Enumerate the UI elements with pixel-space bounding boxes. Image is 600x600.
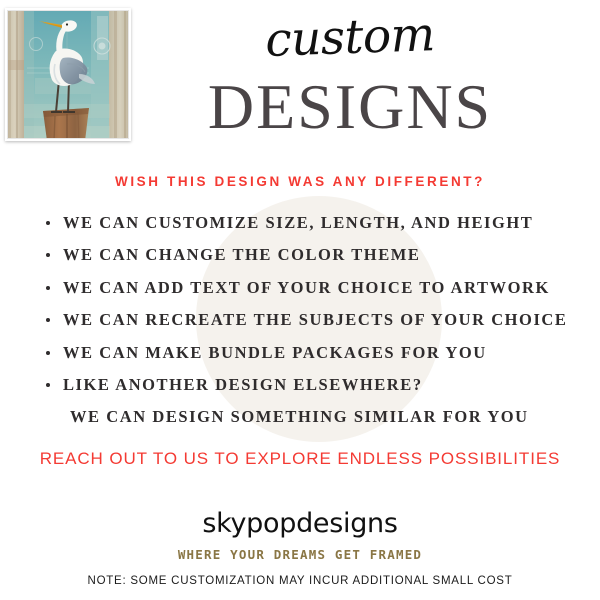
- header-block: custom DESIGNS: [140, 14, 560, 139]
- bullet-dot-icon: [46, 318, 50, 322]
- bullet-dot-icon: [46, 383, 50, 387]
- egret-painting-illustration: [5, 8, 131, 141]
- brand-tagline: WHERE YOUR DREAMS GET FRAMED: [0, 547, 600, 562]
- bullet-dot-icon: [46, 221, 50, 225]
- footer-note: NOTE: SOME CUSTOMIZATION MAY INCUR ADDIT…: [0, 575, 600, 587]
- bullet-dot-icon: [46, 351, 50, 355]
- benefits-list: WE CAN CUSTOMIZE SIZE, LENGTH, AND HEIGH…: [44, 214, 589, 440]
- list-item-continuation: WE CAN DESIGN SOMETHING SIMILAR FOR YOU: [63, 408, 589, 426]
- list-item: WE CAN MAKE BUNDLE PACKAGES FOR YOU: [44, 344, 589, 362]
- list-item-label: WE CAN ADD TEXT OF YOUR CHOICE TO ARTWOR…: [63, 278, 550, 297]
- subtitle-question: WISH THIS DESIGN WAS ANY DIFFERENT?: [0, 174, 600, 189]
- page-title: DESIGNS: [140, 75, 560, 139]
- list-item-label: LIKE ANOTHER DESIGN ELSEWHERE?: [63, 375, 423, 394]
- list-item-label: WE CAN RECREATE THE SUBJECTS OF YOUR CHO…: [63, 310, 567, 329]
- list-item: WE CAN RECREATE THE SUBJECTS OF YOUR CHO…: [44, 311, 589, 329]
- bullet-dot-icon: [46, 253, 50, 257]
- bullet-dot-icon: [46, 286, 50, 290]
- list-item: WE CAN CHANGE THE COLOR THEME: [44, 246, 589, 264]
- list-item: LIKE ANOTHER DESIGN ELSEWHERE? WE CAN DE…: [44, 376, 589, 426]
- artwork-thumbnail-egret[interactable]: [5, 8, 131, 141]
- list-item-label: WE CAN MAKE BUNDLE PACKAGES FOR YOU: [63, 343, 487, 362]
- list-item: WE CAN CUSTOMIZE SIZE, LENGTH, AND HEIGH…: [44, 214, 589, 232]
- list-item-label: WE CAN CHANGE THE COLOR THEME: [63, 245, 420, 264]
- call-to-action-text: REACH OUT TO US TO EXPLORE ENDLESS POSSI…: [0, 449, 600, 469]
- list-item-label: WE CAN CUSTOMIZE SIZE, LENGTH, AND HEIGH…: [63, 213, 533, 232]
- script-title: custom: [139, 7, 560, 69]
- brand-name: skypopdesigns: [0, 508, 600, 539]
- list-item: WE CAN ADD TEXT OF YOUR CHOICE TO ARTWOR…: [44, 279, 589, 297]
